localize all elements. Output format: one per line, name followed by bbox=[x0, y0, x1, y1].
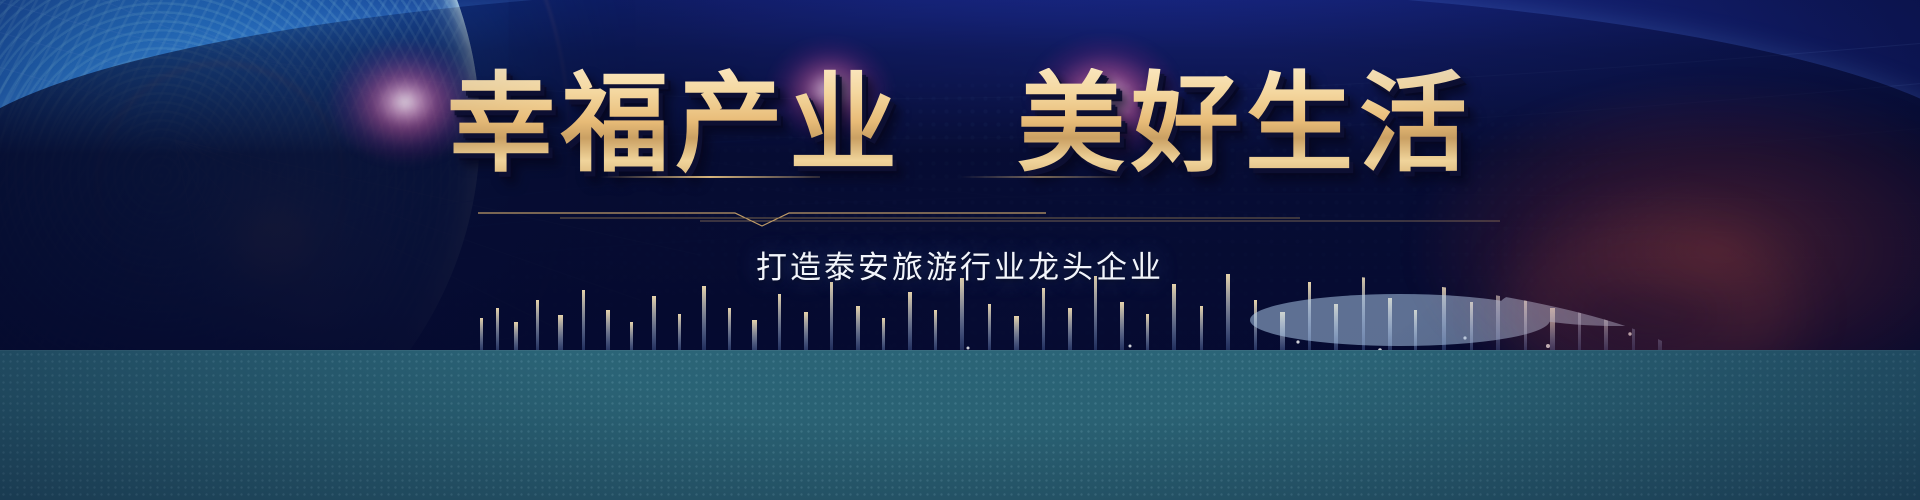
headline-underline-left bbox=[600, 176, 820, 178]
headline-underline-right bbox=[960, 176, 1120, 178]
hero-banner: 幸福产业 美好生活 幸福产业 美好生活 打造泰安旅游行业龙头企业 bbox=[0, 0, 1920, 500]
page-title: 幸福产业 美好生活 bbox=[0, 68, 1920, 181]
page-subtitle: 打造泰安旅游行业龙头企业 bbox=[0, 242, 1920, 287]
v-notch-divider bbox=[0, 200, 1920, 230]
bottom-teal-bar bbox=[0, 350, 1920, 500]
